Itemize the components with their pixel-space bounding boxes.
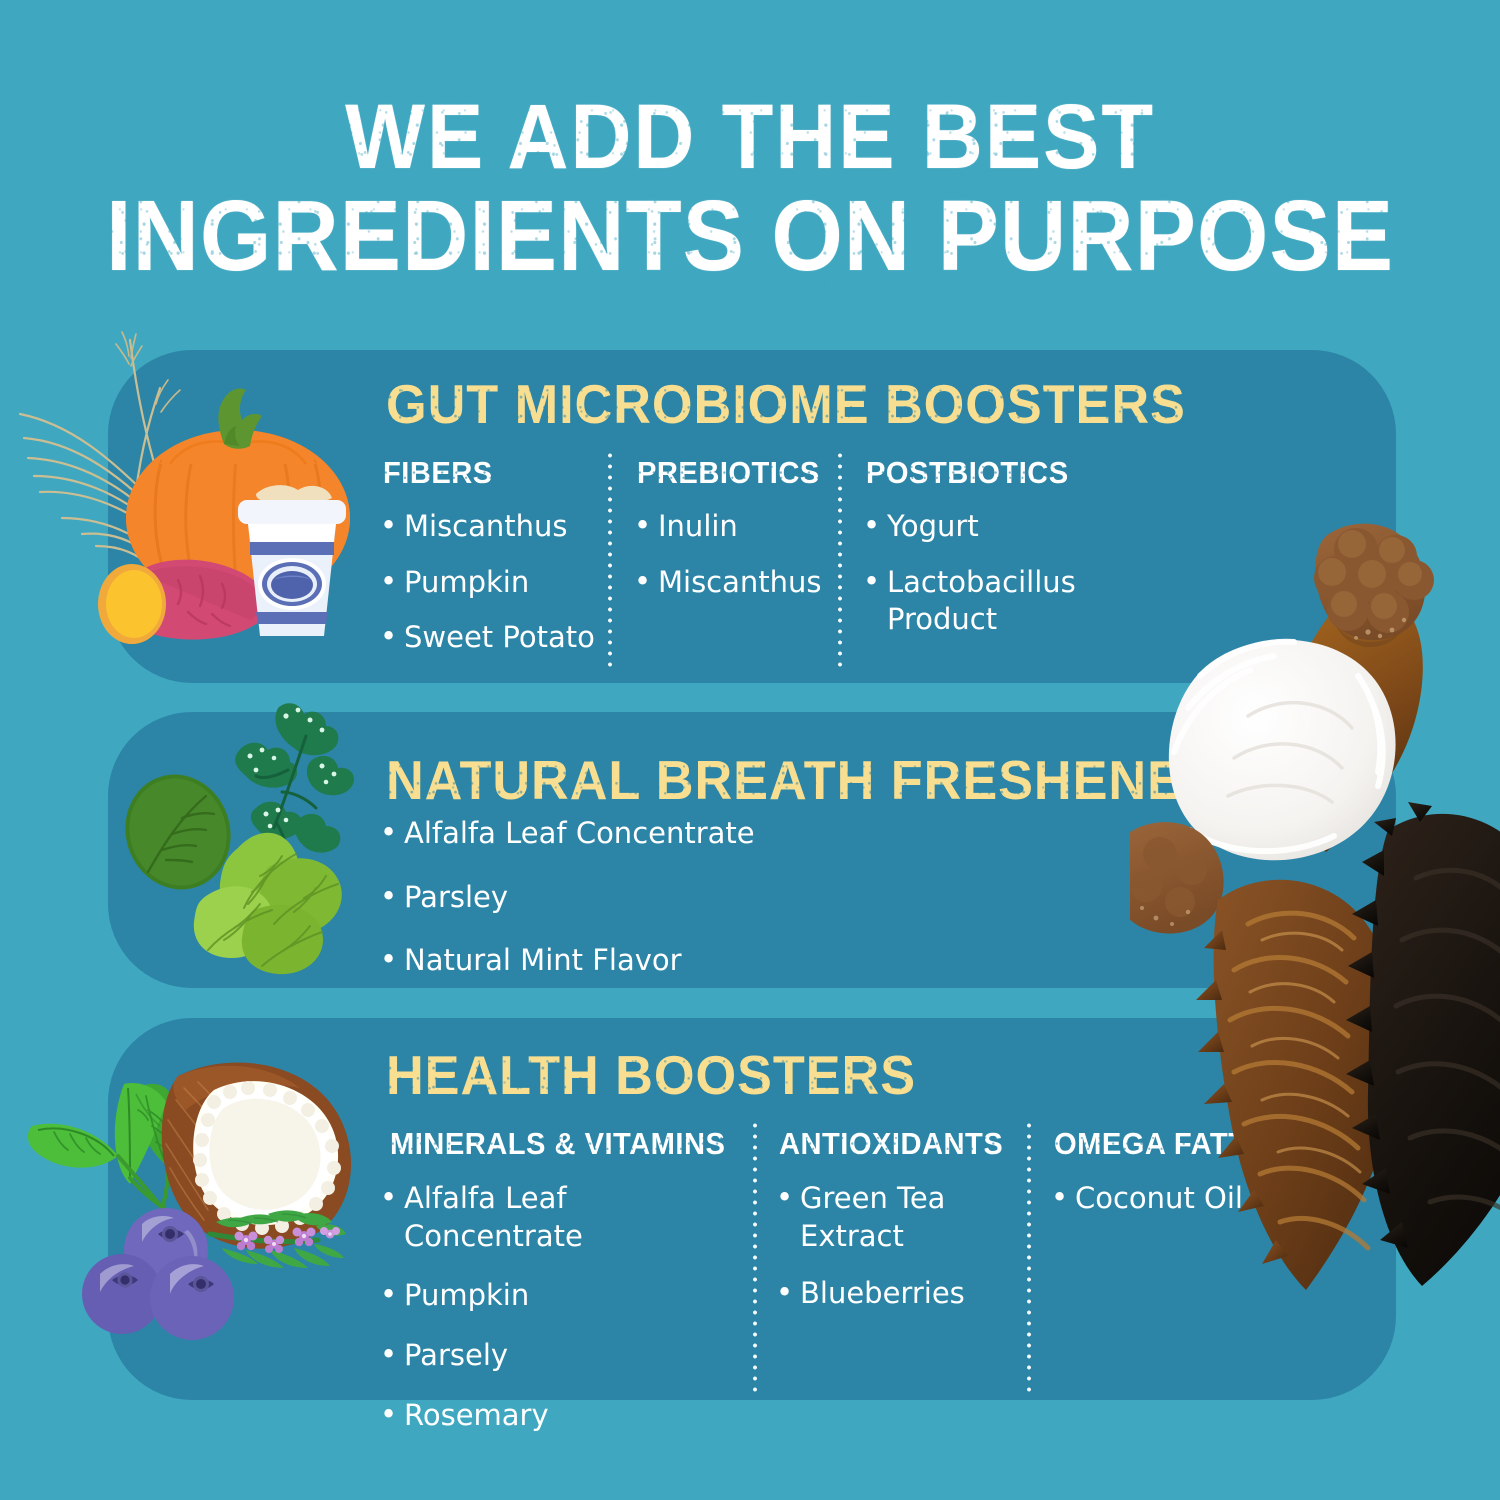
card1-heading: GUT MICROBIOME BOOSTERS: [386, 372, 1186, 436]
list-item: Pumpkin: [380, 564, 595, 602]
list-item: Lactobacillus Product: [863, 564, 1078, 639]
card1-col2-list: Inulin Miscanthus: [634, 508, 829, 619]
list-item: Pumpkin: [380, 1277, 740, 1315]
list-item: Alfalfa Leaf Concentrate: [380, 1180, 740, 1255]
list-item: Alfalfa Leaf Concentrate: [380, 815, 860, 853]
list-item: Yogurt: [863, 508, 1078, 546]
list-item: Miscanthus: [634, 564, 829, 602]
list-item: Miscanthus: [380, 508, 595, 546]
page-title: WE ADD THE BEST INGREDIENTS ON PURPOSE: [60, 88, 1440, 287]
card1-divider-1: [608, 450, 612, 672]
card3-col1-list: Alfalfa Leaf Concentrate Pumpkin Parsely…: [380, 1180, 740, 1453]
card1-col1-head: FIBERS: [383, 455, 493, 491]
list-item: Blueberries: [776, 1275, 956, 1313]
card3-divider-2: [1027, 1120, 1031, 1392]
card3-heading: HEALTH BOOSTERS: [386, 1043, 916, 1107]
card1-col1-list: Miscanthus Pumpkin Sweet Potato: [380, 508, 595, 675]
list-item: Coconut Oil: [1051, 1180, 1311, 1218]
card3-col1-head: MINERALS & VITAMINS: [390, 1126, 725, 1162]
card1-col3-head: POSTBIOTICS: [866, 455, 1069, 491]
card3-col2-list: Green Tea Extract Blueberries: [776, 1180, 956, 1331]
card1-divider-2: [838, 450, 842, 672]
card1-col3-list: Yogurt Lactobacillus Product: [863, 508, 1078, 657]
page-title-line-1: WE ADD THE BEST: [345, 88, 1155, 187]
infographic-stage: WE ADD THE BEST INGREDIENTS ON PURPOSE: [0, 0, 1500, 1500]
list-item: Rosemary: [380, 1397, 740, 1435]
card3-col2-head: ANTIOXIDANTS: [779, 1126, 1003, 1162]
page-title-line-2: INGREDIENTS ON PURPOSE: [106, 187, 1394, 286]
card2-heading: NATURAL BREATH FRESHENERS: [386, 748, 1257, 812]
card3-divider-1: [753, 1120, 757, 1392]
card2-list: Alfalfa Leaf Concentrate Parsley Natural…: [380, 815, 860, 998]
card3-col3-head: OMEGA FATTY ACIDS: [1054, 1126, 1366, 1162]
list-item: Sweet Potato: [380, 619, 595, 657]
card1-col2-head: PREBIOTICS: [637, 455, 820, 491]
card3-col3-list: Coconut Oil: [1051, 1180, 1311, 1236]
list-item: Inulin: [634, 508, 829, 546]
list-item: Parsley: [380, 879, 860, 917]
list-item: Parsely: [380, 1337, 740, 1375]
list-item: Natural Mint Flavor: [380, 942, 860, 980]
list-item: Green Tea Extract: [776, 1180, 956, 1255]
